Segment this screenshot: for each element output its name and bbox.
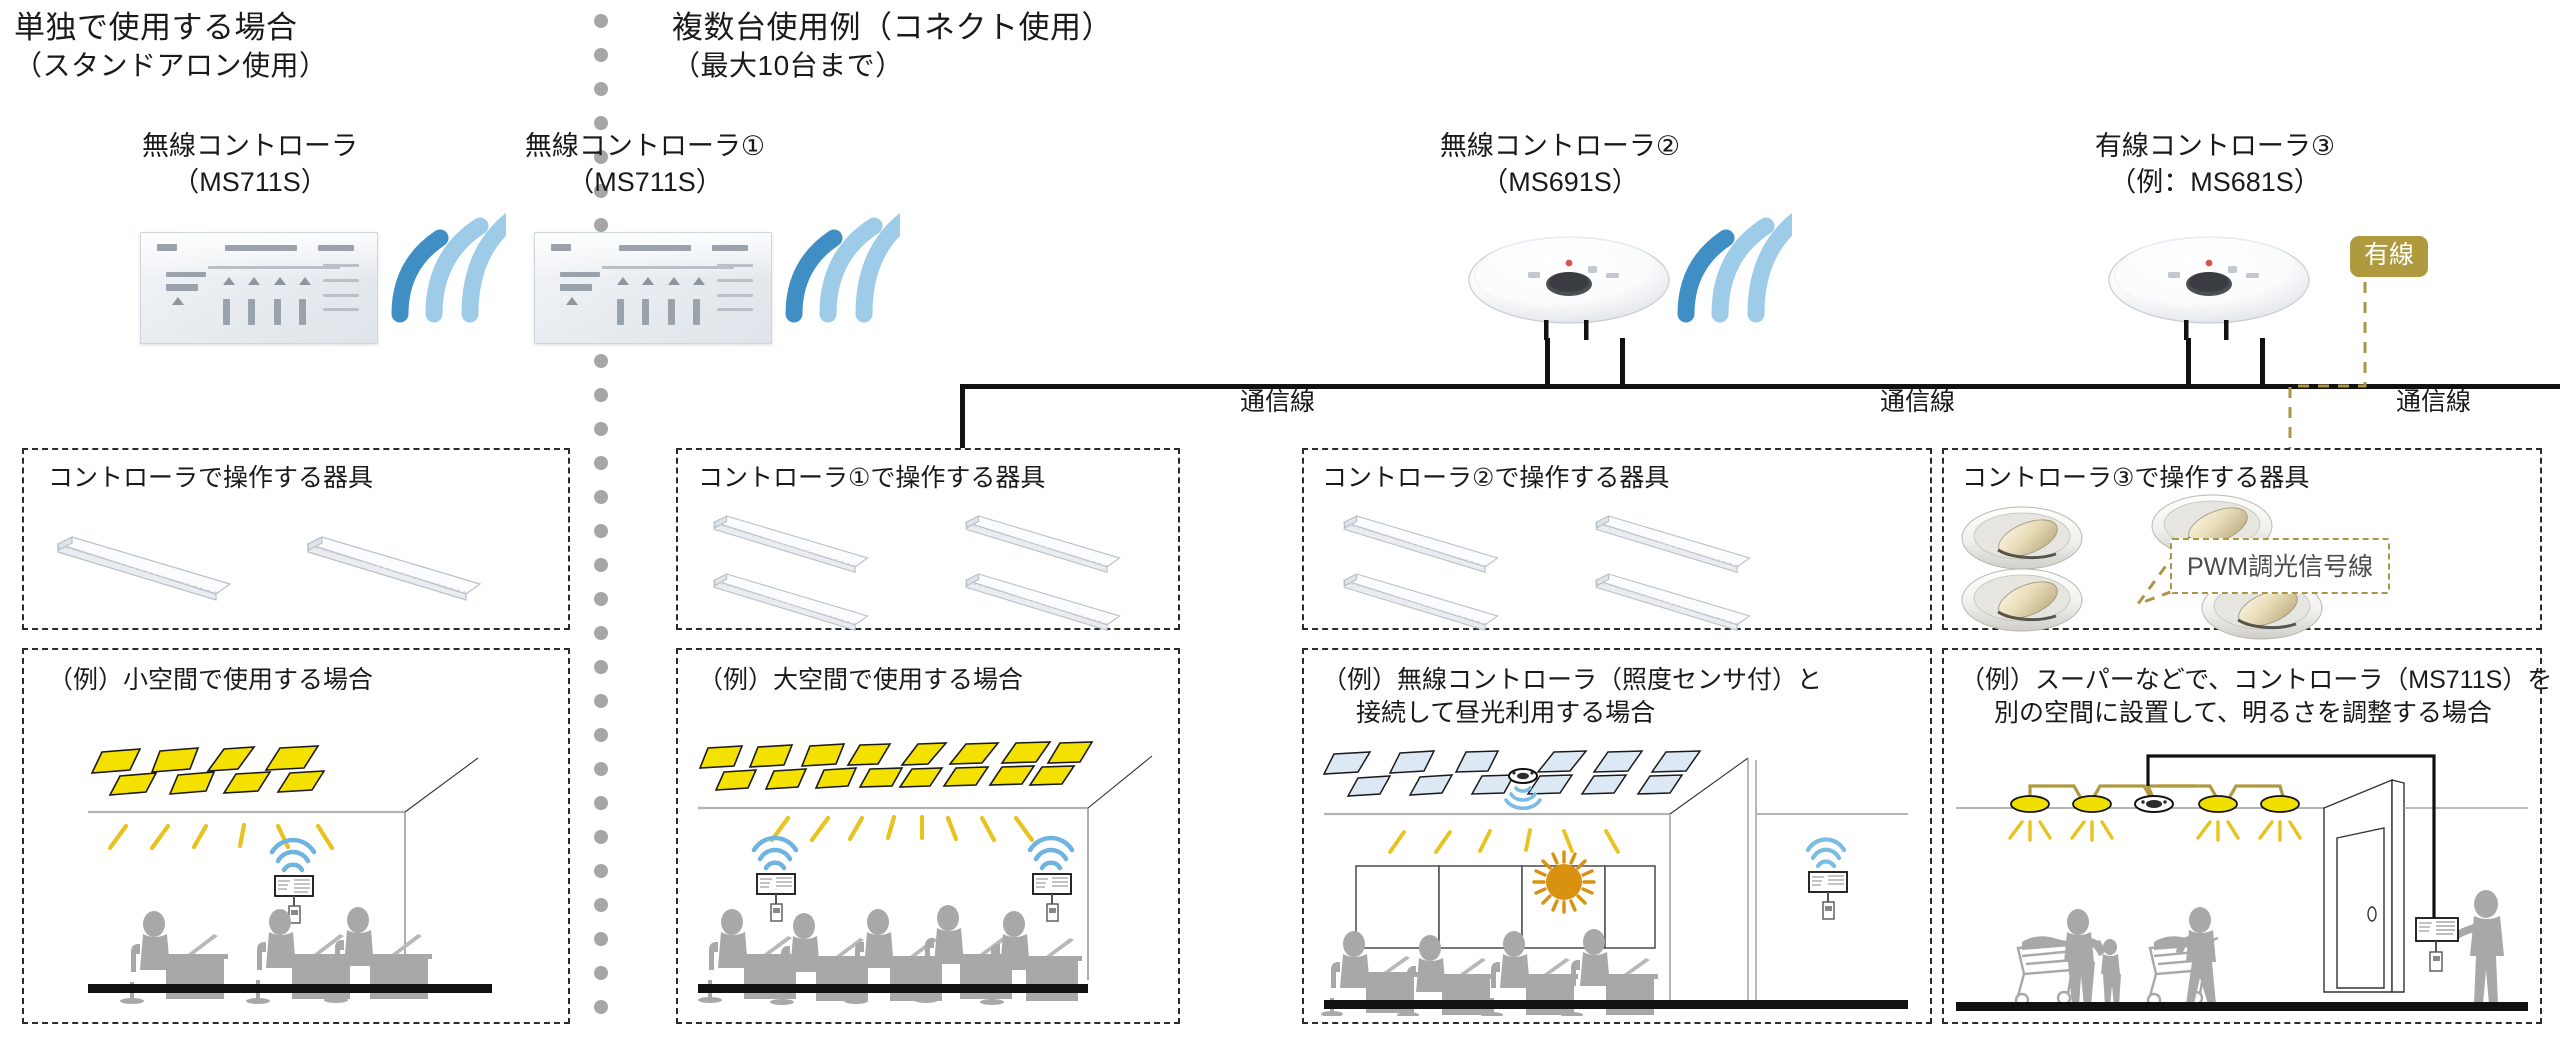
- example-title-line2: 接続して昼光利用する場合: [1322, 697, 1822, 730]
- device-model: （MS691S）: [1415, 164, 1705, 200]
- linear-luminaire-icon: [700, 566, 880, 637]
- device-name: 無線コントローラ: [105, 128, 395, 164]
- diagram-canvas: 単独で使用する場合 （スタンドアロン使用） 複数台使用例（コネクト使用） （最大…: [0, 0, 2560, 1060]
- section-subtitle: （最大10台まで）: [672, 48, 1113, 84]
- wall-controller-panel-0[interactable]: [140, 232, 378, 344]
- section-title: 複数台使用例（コネクト使用）: [672, 8, 1113, 48]
- device-name: 無線コントローラ①: [500, 128, 790, 164]
- pwm-signal-label: PWM調光信号線: [2170, 538, 2390, 594]
- wifi-signal-icon: [780, 208, 900, 324]
- downlight-icon: [1958, 560, 2088, 641]
- fixture-group-title-1: コントローラ①で操作する器具: [698, 462, 1045, 495]
- wire-drop-ctrl1: [960, 388, 965, 448]
- wire-label-1: 通信線: [1240, 382, 1315, 418]
- example-title-1: （例）大空間で使用する場合: [698, 664, 1023, 697]
- section-heading-standalone: 単独で使用する場合 （スタンドアロン使用）: [14, 8, 328, 85]
- device-name: 有線コントローラ③: [2055, 128, 2375, 164]
- device-model: （MS711S）: [500, 164, 790, 200]
- example-title-2: （例）無線コントローラ（照度センサ付）と 接続して昼光利用する場合: [1322, 664, 1822, 729]
- device-caption-1: 無線コントローラ① （MS711S）: [500, 128, 790, 200]
- linear-luminaire-icon: [1330, 566, 1510, 637]
- fixture-group-title-0: コントローラで操作する器具: [48, 462, 373, 495]
- scene-daylight-office: [1318, 742, 1916, 1016]
- example-title-line1: （例）スーパーなどで、コントローラ（MS711S）を: [1960, 666, 2552, 694]
- device-caption-0: 無線コントローラ （MS711S）: [105, 128, 395, 200]
- linear-luminaire-icon: [48, 528, 238, 607]
- wifi-signal-icon: [386, 208, 506, 324]
- linear-luminaire-icon: [1582, 566, 1762, 637]
- scene-supermarket: [1952, 742, 2532, 1016]
- scene-large-office: [690, 730, 1168, 1016]
- ceiling-sensor-icon-2[interactable]: [1466, 232, 1676, 345]
- example-title-0: （例）小空間で使用する場合: [48, 664, 373, 697]
- example-title-line1: （例）無線コントローラ（照度センサ付）と: [1322, 666, 1822, 694]
- section-subtitle: （スタンドアロン使用）: [14, 48, 328, 84]
- section-heading-multi: 複数台使用例（コネクト使用） （最大10台まで）: [672, 8, 1113, 85]
- linear-luminaire-icon: [298, 528, 488, 607]
- linear-luminaire-icon: [952, 566, 1132, 637]
- example-title-line1: （例）大空間で使用する場合: [698, 666, 1023, 694]
- fixture-group-title-2: コントローラ②で操作する器具: [1322, 462, 1669, 495]
- wire-label-2: 通信線: [1880, 382, 1955, 418]
- scene-small-office: [40, 730, 560, 1016]
- device-caption-3: 有線コントローラ③ （例：MS681S）: [2055, 128, 2375, 200]
- device-model: （MS711S）: [105, 164, 395, 200]
- device-caption-2: 無線コントローラ② （MS691S）: [1415, 128, 1705, 200]
- wire-drop-sensor2-b: [1620, 338, 1625, 388]
- device-name: 無線コントローラ②: [1415, 128, 1705, 164]
- wifi-signal-icon: [1672, 208, 1792, 324]
- wire-drop-sensor2-a: [1545, 338, 1550, 388]
- example-title-line2: 別の空間に設置して、明るさを調整する場合: [1960, 697, 2552, 730]
- device-model: （例：MS681S）: [2055, 164, 2375, 200]
- example-title-3: （例）スーパーなどで、コントローラ（MS711S）を 別の空間に設置して、明るさ…: [1960, 664, 2552, 729]
- wall-controller-panel-1[interactable]: [534, 232, 772, 344]
- example-title-line1: （例）小空間で使用する場合: [48, 666, 373, 694]
- section-title: 単独で使用する場合: [14, 8, 328, 48]
